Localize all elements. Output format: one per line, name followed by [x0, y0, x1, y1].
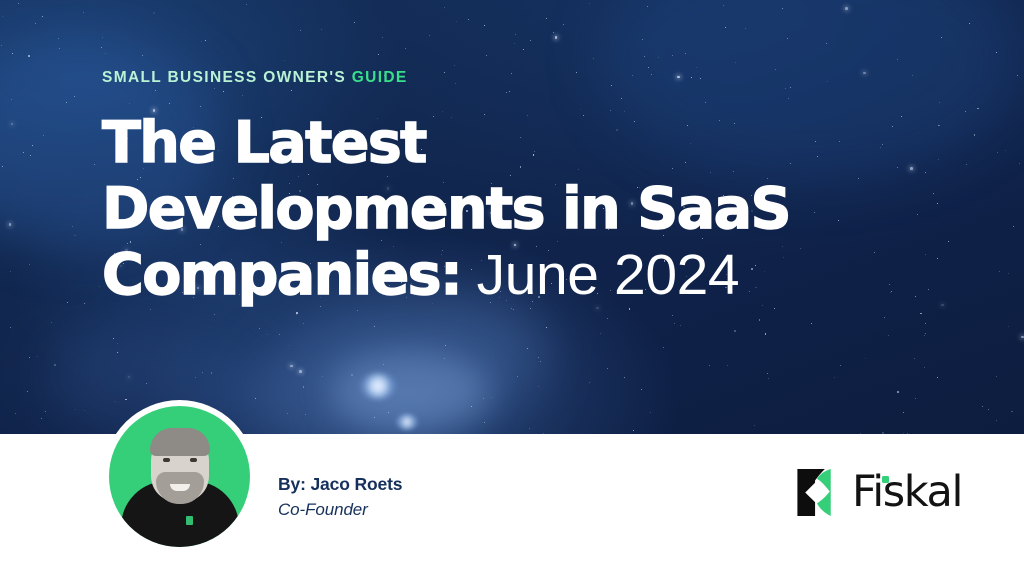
eyebrow-accent: GUIDE: [352, 69, 408, 86]
footer-bar: By: Jaco Roets Co-Founder Fiskal: [0, 434, 1024, 577]
avatar-portrait-eye-right: [190, 458, 197, 462]
author-name: By: Jaco Roets: [278, 473, 402, 497]
headline-line-3-light: June 2024: [461, 243, 739, 307]
eyebrow-label: SMALL BUSINESS OWNER'S GUIDE: [102, 70, 962, 86]
eyebrow-prefix: SMALL BUSINESS OWNER'S: [102, 69, 352, 86]
headline-line-1-text: The Latest: [102, 110, 426, 176]
brand-i-dot-icon: [882, 476, 889, 483]
avatar-portrait-eye-left: [163, 458, 170, 462]
headline-line-1: The Latest: [102, 110, 962, 176]
author-role: Co-Founder: [278, 498, 402, 522]
avatar: [103, 400, 256, 553]
brand-wordmark-text: Fiskal: [852, 467, 962, 517]
headline-line-3: Companies: June 2024: [102, 242, 962, 308]
author-block: By: Jaco Roets Co-Founder: [278, 473, 402, 521]
headline-line-2-text: Developments in SaaS: [102, 176, 790, 242]
avatar-photo: [109, 406, 250, 547]
brand-logo: Fiskal: [795, 468, 962, 517]
page-title: The Latest Developments in SaaS Companie…: [102, 110, 962, 308]
brand-wordmark: Fiskal: [852, 471, 962, 514]
hero-space-background: SMALL BUSINESS OWNER'S GUIDE The Latest …: [0, 0, 1024, 434]
avatar-portrait-hair: [150, 428, 210, 456]
headline-line-3-bold: Companies:: [102, 242, 461, 308]
fiskal-k-mark-icon: [795, 468, 839, 517]
hero-text-block: SMALL BUSINESS OWNER'S GUIDE The Latest …: [102, 70, 962, 308]
avatar-shirt-logo-icon: [186, 516, 193, 525]
blog-header-graphic: SMALL BUSINESS OWNER'S GUIDE The Latest …: [0, 0, 1024, 577]
headline-line-2: Developments in SaaS: [102, 176, 962, 242]
